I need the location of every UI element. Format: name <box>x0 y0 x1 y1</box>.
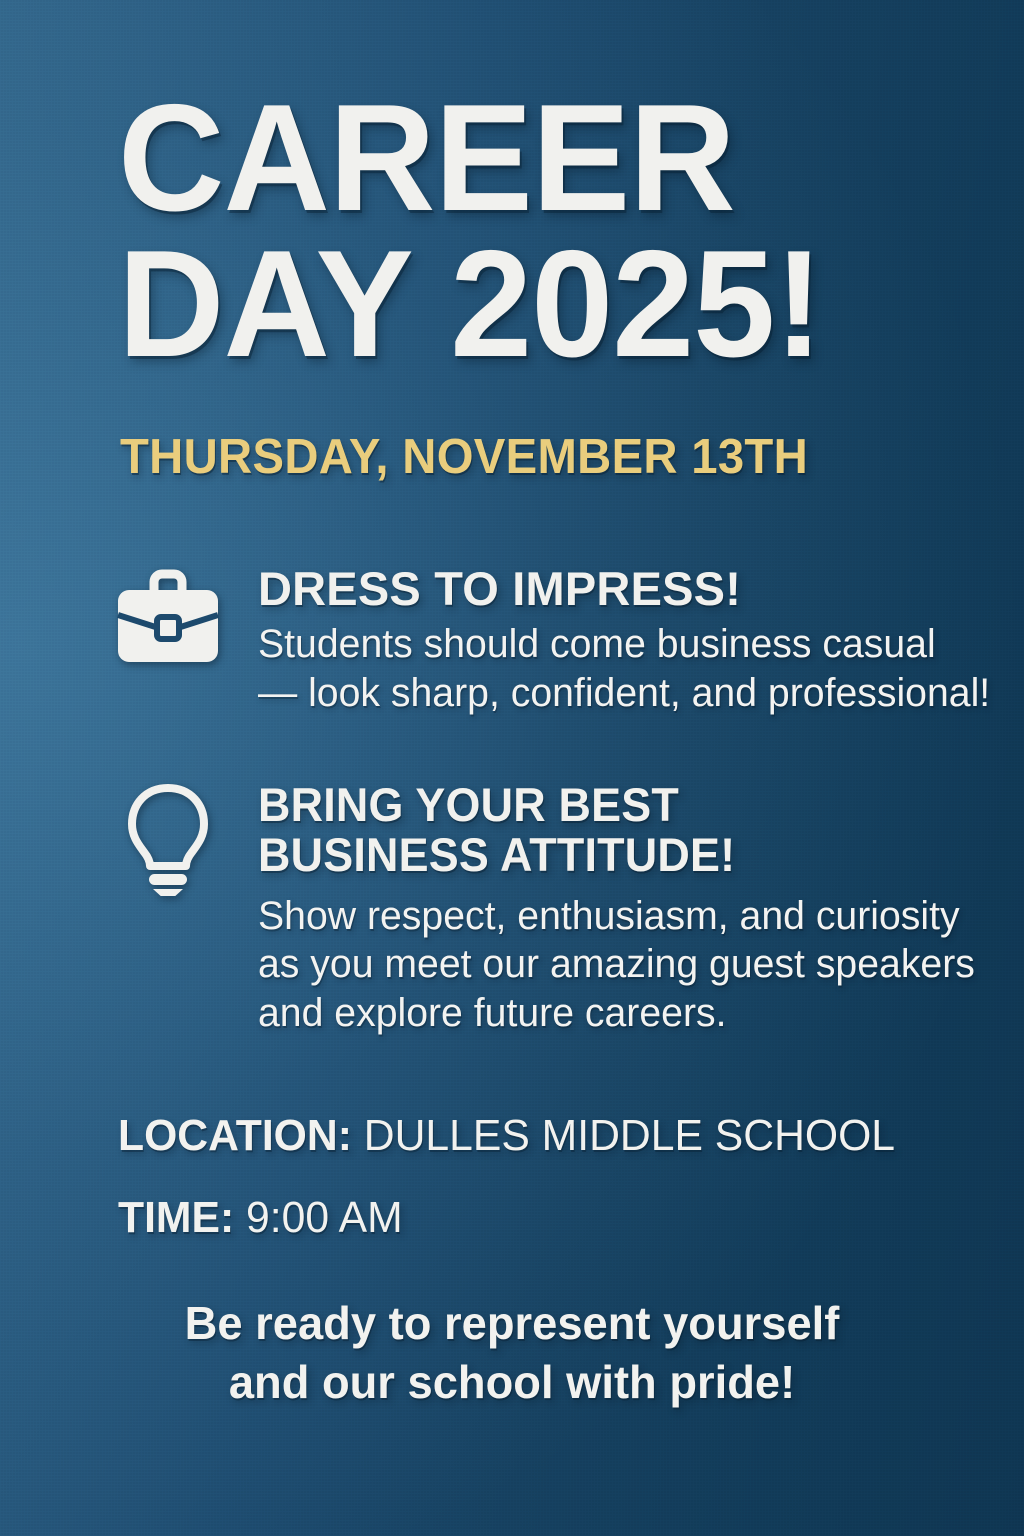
event-details: LOCATION: DULLES MIDDLE SCHOOL TIME: 9:0… <box>118 1112 998 1243</box>
event-date: THURSDAY, NOVEMBER 13TH <box>120 429 808 485</box>
closing-line: Be ready to represent yourself <box>8 1294 1017 1353</box>
feature-heading-line: BUSINESS ATTITUDE! <box>258 830 988 880</box>
feature-heading-line: BRING YOUR BEST <box>258 780 988 830</box>
feature-body-line: and explore future careers. <box>258 989 1007 1038</box>
title-line-career: CAREER <box>118 86 933 232</box>
feature-attitude-text: BRING YOUR BEST BUSINESS ATTITUDE! Show … <box>258 778 1022 1038</box>
feature-body-line: Show respect, enthusiasm, and curiosity <box>258 892 1007 941</box>
feature-dress-to-impress: DRESS TO IMPRESS! Students should come b… <box>112 562 1022 717</box>
time-label: TIME: <box>118 1193 234 1242</box>
location-label: LOCATION: <box>118 1111 352 1160</box>
feature-body-line: Students should come business casual <box>258 620 1007 669</box>
closing-line: and our school with pride! <box>8 1353 1017 1412</box>
feature-dress-text: DRESS TO IMPRESS! Students should come b… <box>258 562 1022 717</box>
feature-body-dress: Students should come business casual — l… <box>258 620 1007 718</box>
feature-body-line: as you meet our amazing guest speakers <box>258 940 1007 989</box>
detail-location: LOCATION: DULLES MIDDLE SCHOOL <box>118 1112 972 1160</box>
feature-body-line: — look sharp, confident, and professiona… <box>258 669 1007 718</box>
briefcase-icon <box>112 562 224 668</box>
career-day-poster: CAREER DAY 2025! THURSDAY, NOVEMBER 13TH… <box>0 0 1024 1536</box>
time-value: 9:00 AM <box>246 1193 403 1242</box>
closing-message: Be ready to represent yourself and our s… <box>8 1294 1017 1412</box>
title-line-day-2025: DAY 2025! <box>118 232 933 378</box>
location-value: DULLES MIDDLE SCHOOL <box>364 1111 895 1160</box>
feature-business-attitude: BRING YOUR BEST BUSINESS ATTITUDE! Show … <box>112 778 1022 1038</box>
lightbulb-icon <box>112 778 224 896</box>
feature-body-attitude: Show respect, enthusiasm, and curiosity … <box>258 892 1007 1038</box>
feature-heading-attitude: BRING YOUR BEST BUSINESS ATTITUDE! <box>258 780 988 880</box>
feature-heading-dress: DRESS TO IMPRESS! <box>258 564 1022 614</box>
detail-time: TIME: 9:00 AM <box>118 1194 972 1242</box>
page-title: CAREER DAY 2025! <box>118 86 958 378</box>
